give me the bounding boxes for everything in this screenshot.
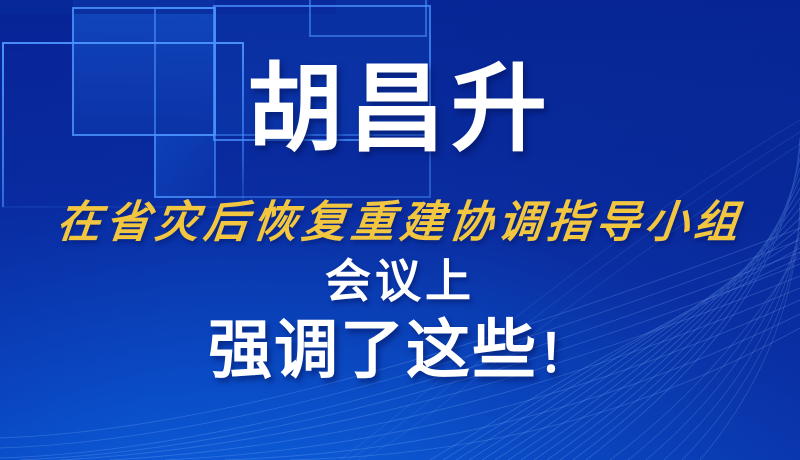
page-title-name: 胡昌升 — [0, 62, 800, 158]
poster-canvas: 胡昌升 在省灾后恢复重建协调指导小组 会议上 强调了这些！ — [0, 0, 800, 460]
poster-text-stack: 胡昌升 在省灾后恢复重建协调指导小组 会议上 强调了这些！ — [0, 0, 800, 460]
emphasis-headline-text: 强调了这些 — [208, 314, 538, 386]
calligraphy-subtitle: 在省灾后恢复重建协调指导小组 — [0, 200, 800, 246]
emphasis-headline: 强调了这些！ — [0, 318, 800, 382]
meeting-context-label: 会议上 — [0, 258, 800, 304]
emphasis-exclamation-mark: ！ — [538, 326, 592, 384]
